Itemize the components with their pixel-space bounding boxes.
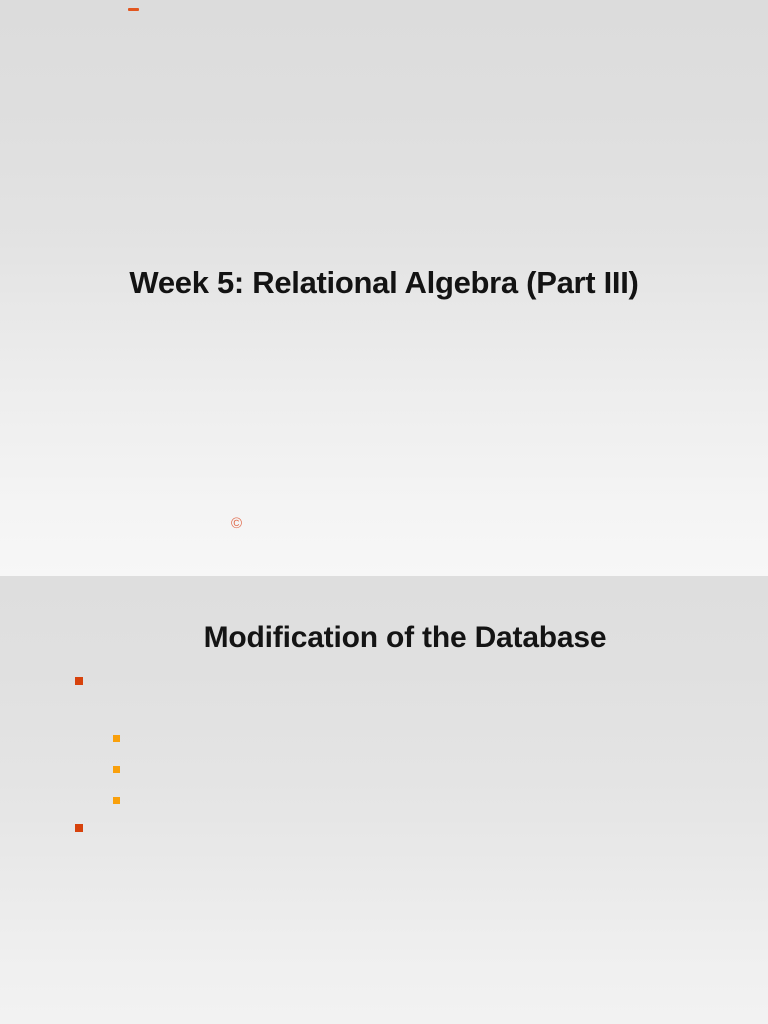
bullet-item-level2-1 — [113, 735, 120, 742]
document-page: Week 5: Relational Algebra (Part III) © … — [0, 0, 768, 1024]
bullet-square-icon — [113, 735, 120, 742]
deck-title: Week 5: Relational Algebra (Part III) — [0, 265, 768, 301]
bullet-item-level1-1 — [75, 677, 83, 685]
bullet-square-icon — [113, 797, 120, 804]
stray-dash-mark — [128, 8, 139, 11]
slide-1: Week 5: Relational Algebra (Part III) © — [0, 0, 768, 576]
bullet-square-icon — [75, 677, 83, 685]
copyright-icon: © — [231, 516, 242, 531]
bullet-item-level2-2 — [113, 766, 120, 773]
bullet-item-level1-2 — [75, 824, 83, 832]
slide-title: Modification of the Database — [0, 621, 768, 655]
bullet-square-icon — [113, 766, 120, 773]
bullet-square-icon — [75, 824, 83, 832]
bullet-item-level2-3 — [113, 797, 120, 804]
